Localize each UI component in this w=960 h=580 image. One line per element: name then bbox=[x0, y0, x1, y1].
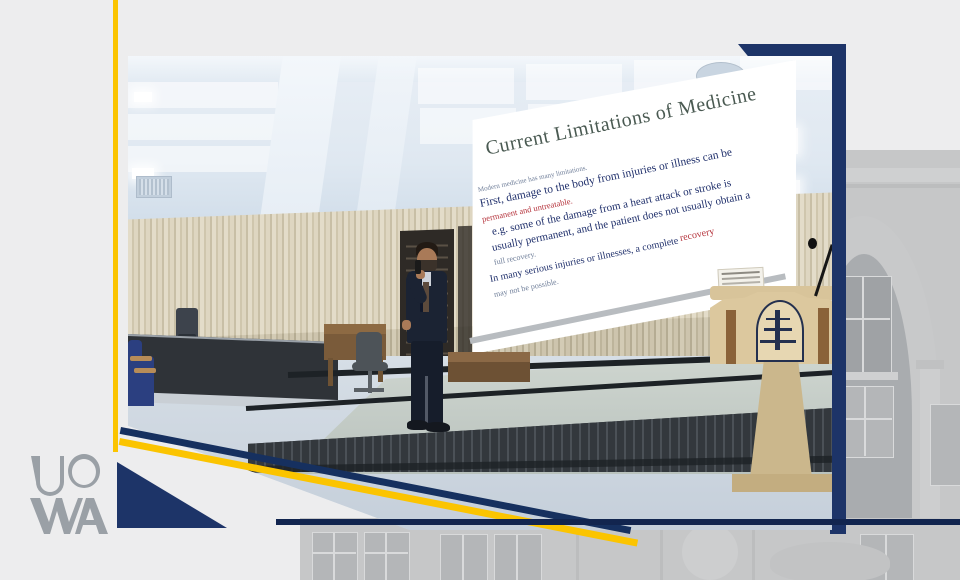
yellow-vertical-bar bbox=[113, 0, 118, 452]
navy-triangle-accent bbox=[117, 462, 227, 528]
slide-bullet-7: recovery bbox=[679, 226, 715, 244]
stage-chair bbox=[356, 332, 382, 366]
uowa-logo[interactable] bbox=[28, 452, 110, 536]
event-photo: Current Limitations of Medicine Modern m… bbox=[128, 56, 832, 530]
lectern-arch-emblem bbox=[756, 300, 804, 362]
banner-canvas: Current Limitations of Medicine Modern m… bbox=[0, 0, 960, 580]
auditorium-seat bbox=[128, 356, 154, 406]
navy-horizontal-rule bbox=[276, 519, 960, 525]
handheld-microphone bbox=[415, 260, 421, 274]
